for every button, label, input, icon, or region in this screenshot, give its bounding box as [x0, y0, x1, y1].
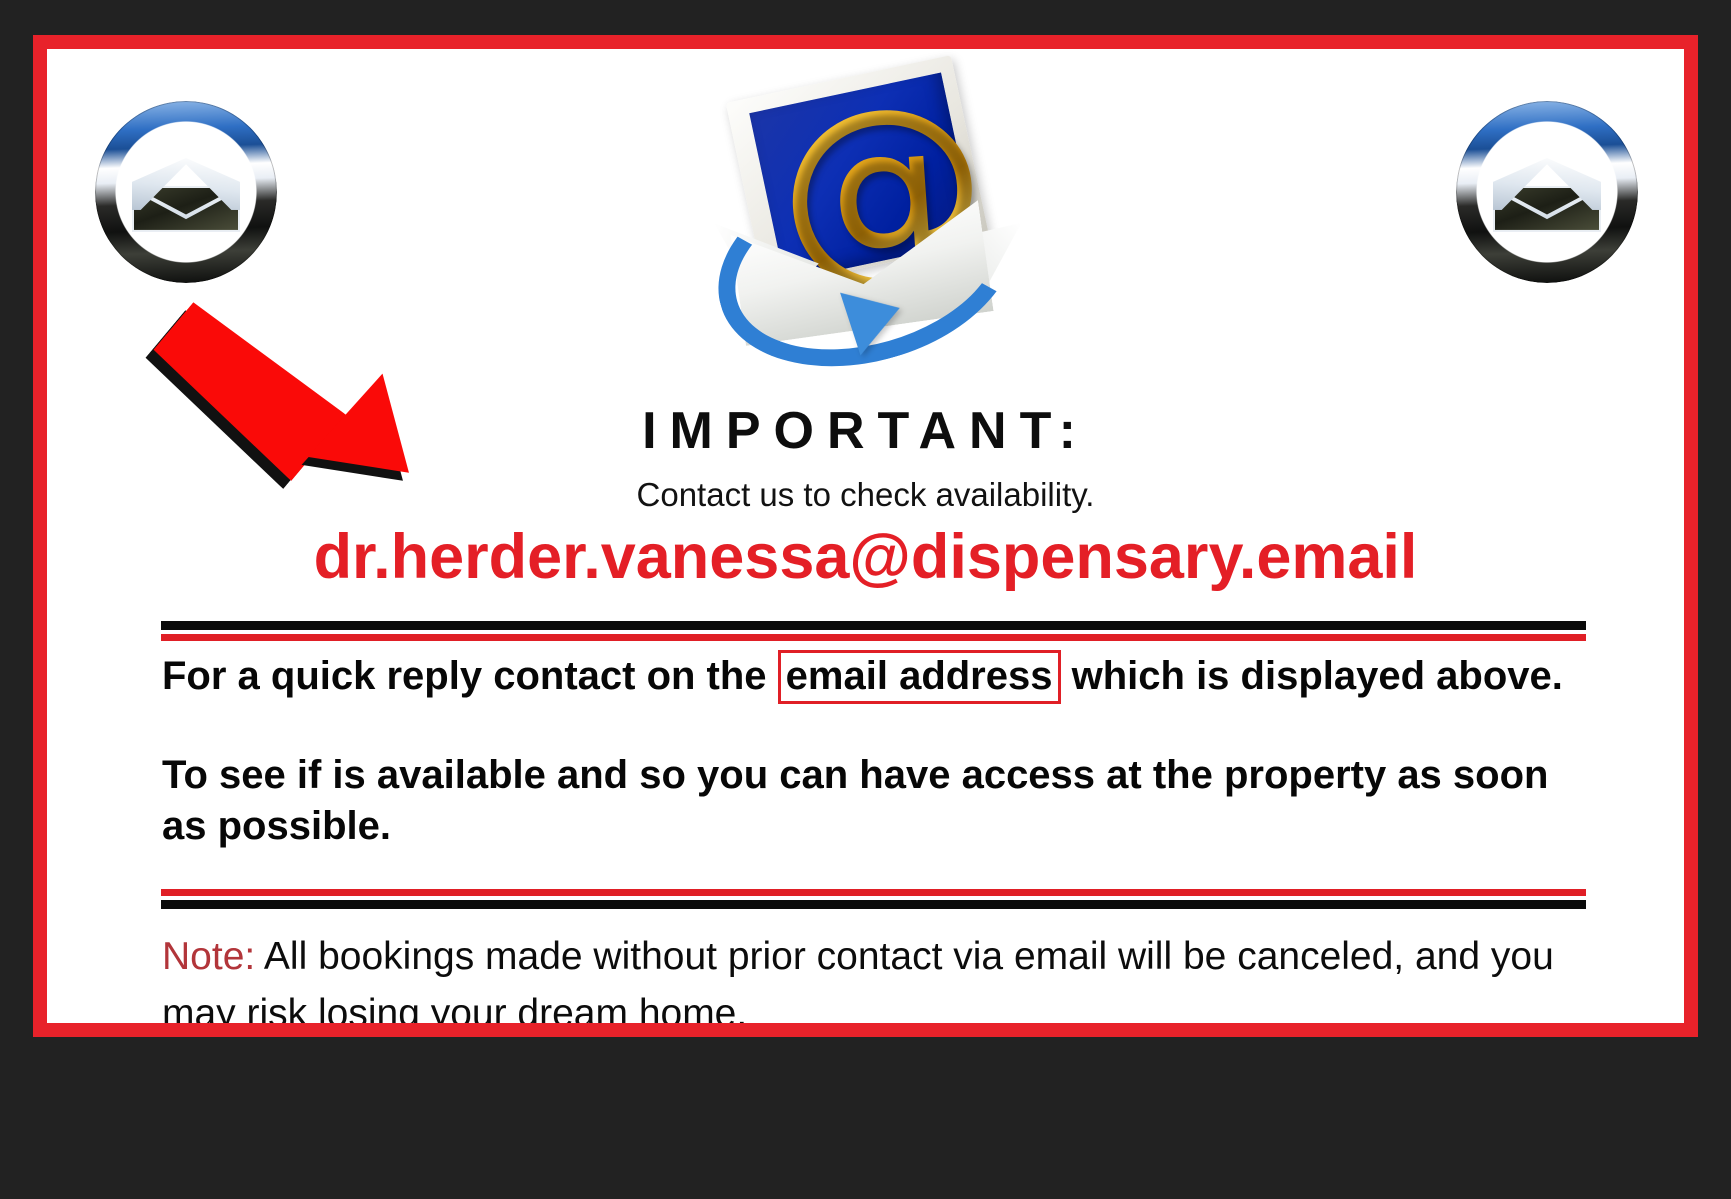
contact-email-address[interactable]: dr.herder.vanessa@dispensary.email: [47, 521, 1684, 593]
divider-red-bar: [161, 634, 1586, 641]
note-label: Note:: [162, 935, 255, 978]
paragraph-1-trail-text: which is displayed above.: [1061, 654, 1563, 698]
paragraph-1-lead-text: For a quick reply contact on the: [162, 654, 778, 698]
page-title: IMPORTANT:: [47, 401, 1684, 461]
paragraph-availability: To see if is available and so you can ha…: [162, 750, 1592, 852]
subtitle: Contact us to check availability.: [47, 476, 1684, 514]
envelope-circle-icon-right: [1456, 101, 1638, 283]
note-text-block: Note: All bookings made without prior co…: [162, 929, 1602, 1023]
divider-red-bar: [161, 889, 1586, 896]
open-envelope-icon: [132, 158, 240, 232]
poster-red-frame: @ IMPORTANT: Contact us to check availab…: [33, 35, 1698, 1037]
at-symbol-email-envelope-icon: @: [701, 59, 1031, 379]
email-address-highlight-box: email address: [778, 650, 1061, 704]
divider-black-bar: [161, 621, 1586, 630]
paragraph-spacer: [162, 702, 1592, 750]
paragraph-quick-reply: For a quick reply contact on the email a…: [162, 651, 1592, 702]
body-text-block: For a quick reply contact on the email a…: [162, 651, 1592, 853]
divider-bottom: [161, 889, 1586, 909]
poster-content-area: @ IMPORTANT: Contact us to check availab…: [47, 49, 1684, 1023]
open-envelope-icon: [1493, 158, 1601, 232]
divider-black-bar: [161, 900, 1586, 909]
envelope-circle-icon-left: [95, 101, 277, 283]
note-text: All bookings made without prior contact …: [162, 935, 1554, 1023]
divider-top: [161, 621, 1586, 641]
